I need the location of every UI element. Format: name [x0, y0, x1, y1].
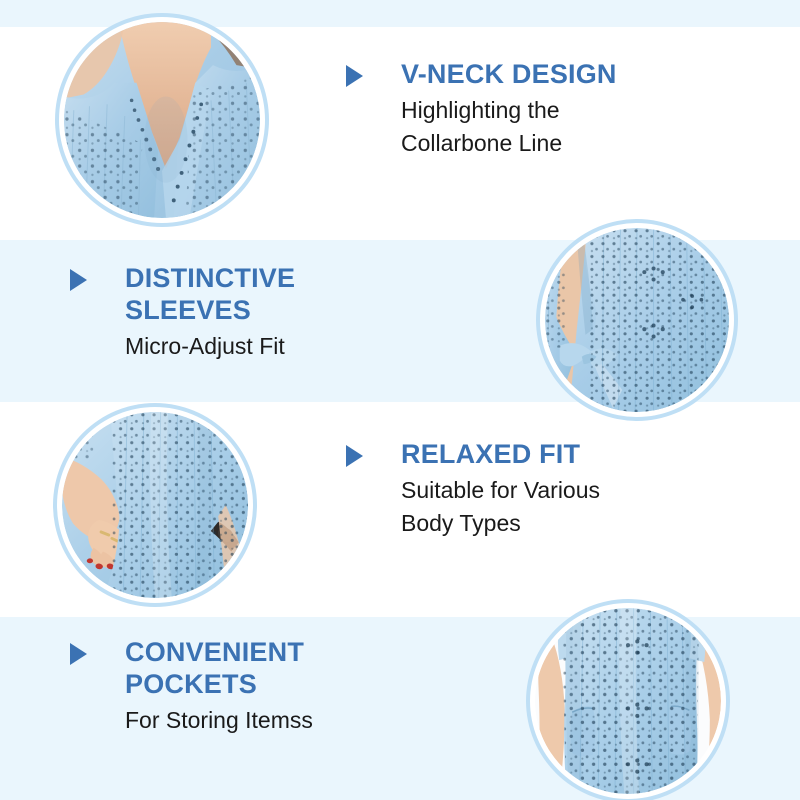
- photo-pocket-image: [535, 608, 721, 794]
- triangle-right-icon: [346, 445, 363, 467]
- feature-subtext: Suitable for Various Body Types: [401, 474, 600, 540]
- feature-heading: RELAXED FIT: [401, 438, 580, 470]
- feature-text-relaxed-fit: RELAXED FIT Suitable for Various Body Ty…: [346, 438, 600, 540]
- photo-relaxed-fit-image: [62, 412, 248, 598]
- feature-subtext: For Storing Itemss: [125, 704, 313, 737]
- feature-heading-row: CONVENIENT POCKETS: [70, 636, 313, 700]
- feature-heading: V-NECK DESIGN: [401, 58, 617, 90]
- feature-heading-row: DISTINCTIVE SLEEVES: [70, 262, 295, 326]
- feature-heading-wrap: V-NECK DESIGN: [401, 58, 617, 90]
- feature-heading-wrap: DISTINCTIVE SLEEVES: [125, 262, 295, 326]
- feature-text-distinctive-sleeves: DISTINCTIVE SLEEVES Micro-Adjust Fit: [70, 262, 295, 363]
- feature-heading-wrap: CONVENIENT POCKETS: [125, 636, 304, 700]
- photo-v-neck-detail: [64, 22, 260, 218]
- infographic-page: V-NECK DESIGN Highlighting the Collarbon…: [0, 0, 800, 800]
- feature-text-v-neck-design: V-NECK DESIGN Highlighting the Collarbon…: [346, 58, 617, 160]
- background-band-top: [0, 0, 800, 27]
- feature-heading-wrap: RELAXED FIT: [401, 438, 580, 470]
- photo-sleeve-detail: [545, 228, 729, 412]
- feature-heading-row: V-NECK DESIGN: [346, 58, 617, 90]
- triangle-right-icon: [70, 643, 87, 665]
- photo-v-neck-image: [64, 22, 260, 218]
- photo-pocket-detail: [535, 608, 721, 794]
- feature-text-convenient-pockets: CONVENIENT POCKETS For Storing Itemss: [70, 636, 313, 737]
- feature-heading-row: RELAXED FIT: [346, 438, 600, 470]
- photo-relaxed-fit-detail: [62, 412, 248, 598]
- feature-heading: CONVENIENT POCKETS: [125, 636, 304, 700]
- triangle-right-icon: [346, 65, 363, 87]
- feature-subtext: Highlighting the Collarbone Line: [401, 94, 617, 160]
- feature-heading: DISTINCTIVE SLEEVES: [125, 262, 295, 326]
- feature-subtext: Micro-Adjust Fit: [125, 330, 295, 363]
- triangle-right-icon: [70, 269, 87, 291]
- photo-sleeve-image: [545, 228, 729, 412]
